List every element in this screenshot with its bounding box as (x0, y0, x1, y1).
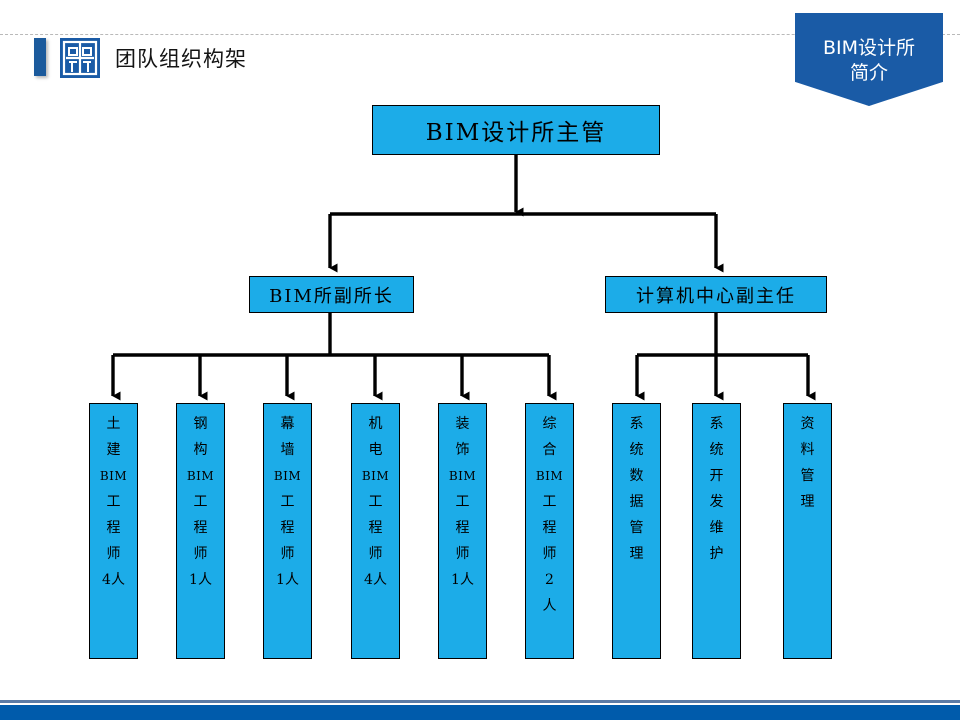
leaf-char: 电 (352, 437, 399, 463)
leaf-char-latin: BIM (90, 463, 137, 489)
leaf-char: 土 (90, 411, 137, 437)
leaf-headcount-unit: 人 (526, 593, 573, 619)
leaf-char: 管 (784, 463, 831, 489)
leaf-char: 系 (613, 411, 660, 437)
leaf-char-latin: BIM (177, 463, 224, 489)
org-node-mep-bim-engineer-label: 机 电 BIM 工 程 师 4人 (352, 411, 399, 593)
leaf-char: 统 (693, 437, 740, 463)
leaf-char: 管 (613, 515, 660, 541)
leaf-char: 程 (439, 515, 486, 541)
leaf-char: 程 (526, 515, 573, 541)
leaf-char: 墙 (264, 437, 311, 463)
org-node-civil-bim-engineer-label: 土 建 BIM 工 程 师 4人 (90, 411, 137, 593)
leaf-headcount: 1人 (177, 567, 224, 593)
leaf-char: 开 (693, 463, 740, 489)
org-node-steel-bim-engineer-label: 钢 构 BIM 工 程 师 1人 (177, 411, 224, 593)
org-node-system-data-management[interactable]: 系 统 数 据 管 理 (612, 403, 661, 659)
slide-canvas: 团队组织构架 BIM设计所 简介 (0, 0, 960, 720)
leaf-char-latin: BIM (264, 463, 311, 489)
org-node-root[interactable]: BIM设计所主管 (372, 105, 660, 155)
leaf-char-latin: BIM (352, 463, 399, 489)
leaf-char: 维 (693, 515, 740, 541)
org-node-bim-deputy-director-label: BIM所副所长 (269, 282, 394, 308)
leaf-char: 构 (177, 437, 224, 463)
leaf-char: 程 (90, 515, 137, 541)
leaf-char: 工 (90, 489, 137, 515)
org-node-system-development-maintenance-label: 系 统 开 发 维 护 (693, 411, 740, 567)
leaf-headcount: 2 (526, 567, 573, 593)
leaf-char: 饰 (439, 437, 486, 463)
org-node-document-management[interactable]: 资 料 管 理 (783, 403, 832, 659)
leaf-char: 合 (526, 437, 573, 463)
org-node-system-data-management-label: 系 统 数 据 管 理 (613, 411, 660, 567)
leaf-char: 据 (613, 489, 660, 515)
org-node-root-label: BIM设计所主管 (426, 113, 607, 147)
org-node-bim-deputy-director[interactable]: BIM所副所长 (249, 276, 414, 313)
leaf-char: 幕 (264, 411, 311, 437)
leaf-headcount: 4人 (352, 567, 399, 593)
leaf-char: 师 (90, 541, 137, 567)
org-node-decoration-bim-engineer[interactable]: 装 饰 BIM 工 程 师 1人 (438, 403, 487, 659)
leaf-char: 数 (613, 463, 660, 489)
leaf-char: 系 (693, 411, 740, 437)
org-node-system-development-maintenance[interactable]: 系 统 开 发 维 护 (692, 403, 741, 659)
leaf-char: 统 (613, 437, 660, 463)
org-node-curtainwall-bim-engineer-label: 幕 墙 BIM 工 程 师 1人 (264, 411, 311, 593)
leaf-char: 工 (526, 489, 573, 515)
leaf-headcount: 1人 (264, 567, 311, 593)
leaf-char: 机 (352, 411, 399, 437)
leaf-char: 钢 (177, 411, 224, 437)
footer-divider (0, 700, 960, 703)
leaf-char: 发 (693, 489, 740, 515)
leaf-char: 料 (784, 437, 831, 463)
leaf-char: 工 (352, 489, 399, 515)
leaf-char: 装 (439, 411, 486, 437)
leaf-char: 资 (784, 411, 831, 437)
org-node-document-management-label: 资 料 管 理 (784, 411, 831, 515)
leaf-char: 工 (439, 489, 486, 515)
org-node-integrated-bim-engineer[interactable]: 综 合 BIM 工 程 师 2 人 (525, 403, 574, 659)
leaf-char: 师 (352, 541, 399, 567)
leaf-char: 理 (613, 541, 660, 567)
org-node-computer-center-deputy-label: 计算机中心副主任 (636, 282, 796, 308)
leaf-char-latin: BIM (526, 463, 573, 489)
org-node-mep-bim-engineer[interactable]: 机 电 BIM 工 程 师 4人 (351, 403, 400, 659)
org-node-civil-bim-engineer[interactable]: 土 建 BIM 工 程 师 4人 (89, 403, 138, 659)
leaf-char-latin: BIM (439, 463, 486, 489)
leaf-char: 师 (439, 541, 486, 567)
leaf-char: 程 (264, 515, 311, 541)
footer-bar (0, 705, 960, 720)
leaf-char: 程 (352, 515, 399, 541)
leaf-char: 综 (526, 411, 573, 437)
org-node-curtainwall-bim-engineer[interactable]: 幕 墙 BIM 工 程 师 1人 (263, 403, 312, 659)
leaf-char: 建 (90, 437, 137, 463)
org-node-integrated-bim-engineer-label: 综 合 BIM 工 程 师 2 人 (526, 411, 573, 619)
leaf-char: 程 (177, 515, 224, 541)
org-node-computer-center-deputy[interactable]: 计算机中心副主任 (605, 276, 827, 313)
org-node-steel-bim-engineer[interactable]: 钢 构 BIM 工 程 师 1人 (176, 403, 225, 659)
leaf-char: 师 (177, 541, 224, 567)
org-node-decoration-bim-engineer-label: 装 饰 BIM 工 程 师 1人 (439, 411, 486, 593)
leaf-char: 师 (264, 541, 311, 567)
leaf-char: 师 (526, 541, 573, 567)
leaf-headcount: 4人 (90, 567, 137, 593)
leaf-char: 护 (693, 541, 740, 567)
leaf-char: 理 (784, 489, 831, 515)
leaf-headcount: 1人 (439, 567, 486, 593)
leaf-char: 工 (177, 489, 224, 515)
leaf-char: 工 (264, 489, 311, 515)
